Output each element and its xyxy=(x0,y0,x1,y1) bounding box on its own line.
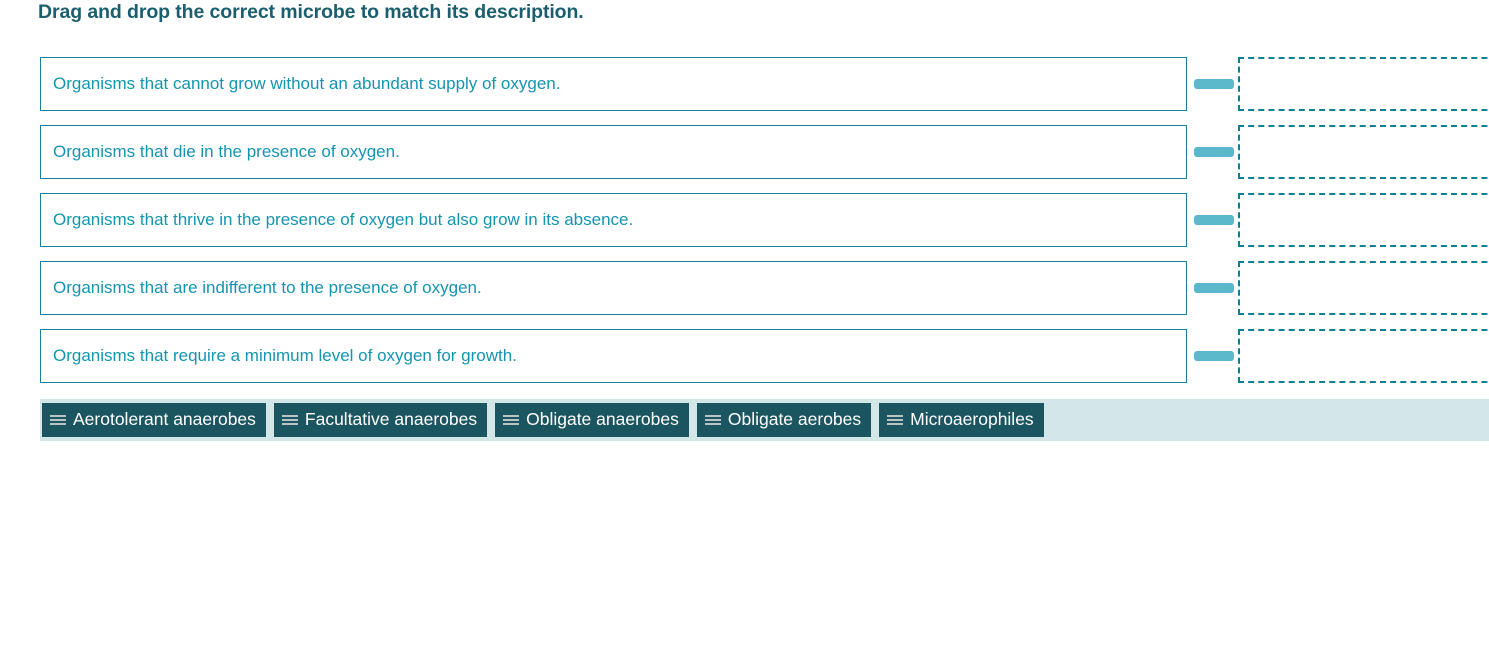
draggable-chip-aerotolerant-anaerobes[interactable]: Aerotolerant anaerobes xyxy=(42,403,266,437)
description-text: Organisms that cannot grow without an ab… xyxy=(41,74,560,94)
chip-label: Facultative anaerobes xyxy=(305,411,477,429)
description-text: Organisms that require a minimum level o… xyxy=(41,346,517,366)
description-box: Organisms that require a minimum level o… xyxy=(40,329,1187,383)
description-text: Organisms that die in the presence of ox… xyxy=(41,142,400,162)
match-row: Organisms that die in the presence of ox… xyxy=(0,125,1489,179)
draggable-chip-microaerophiles[interactable]: Microaerophiles xyxy=(879,403,1044,437)
match-row-list: Organisms that cannot grow without an ab… xyxy=(0,57,1489,397)
drag-handle-icon[interactable] xyxy=(887,414,903,426)
match-row: Organisms that thrive in the presence of… xyxy=(0,193,1489,247)
drop-zone[interactable] xyxy=(1238,125,1489,179)
drag-handle-icon[interactable] xyxy=(282,414,298,426)
description-box: Organisms that cannot grow without an ab… xyxy=(40,57,1187,111)
connector-bar-icon xyxy=(1194,351,1234,361)
description-box: Organisms that thrive in the presence of… xyxy=(40,193,1187,247)
draggable-chip-obligate-aerobes[interactable]: Obligate aerobes xyxy=(697,403,871,437)
draggable-chip-facultative-anaerobes[interactable]: Facultative anaerobes xyxy=(274,403,487,437)
chip-label: Obligate anaerobes xyxy=(526,411,679,429)
chip-label: Microaerophiles xyxy=(910,411,1034,429)
drop-zone[interactable] xyxy=(1238,329,1489,383)
drag-handle-icon[interactable] xyxy=(50,414,66,426)
match-row: Organisms that cannot grow without an ab… xyxy=(0,57,1489,111)
description-box: Organisms that are indifferent to the pr… xyxy=(40,261,1187,315)
connector-bar-icon xyxy=(1194,147,1234,157)
match-row: Organisms that are indifferent to the pr… xyxy=(0,261,1489,315)
drop-zone[interactable] xyxy=(1238,57,1489,111)
drag-handle-icon[interactable] xyxy=(503,414,519,426)
page-title: Drag and drop the correct microbe to mat… xyxy=(38,1,584,24)
drag-drop-question: Drag and drop the correct microbe to mat… xyxy=(0,0,1489,658)
drag-handle-icon[interactable] xyxy=(705,414,721,426)
chip-label: Obligate aerobes xyxy=(728,411,861,429)
description-box: Organisms that die in the presence of ox… xyxy=(40,125,1187,179)
chip-label: Aerotolerant anaerobes xyxy=(73,411,256,429)
connector-bar-icon xyxy=(1194,283,1234,293)
drop-zone[interactable] xyxy=(1238,261,1489,315)
description-text: Organisms that are indifferent to the pr… xyxy=(41,278,482,298)
connector-bar-icon xyxy=(1194,79,1234,89)
description-text: Organisms that thrive in the presence of… xyxy=(41,210,633,230)
connector-bar-icon xyxy=(1194,215,1234,225)
draggable-chip-obligate-anaerobes[interactable]: Obligate anaerobes xyxy=(495,403,689,437)
drop-zone[interactable] xyxy=(1238,193,1489,247)
match-row: Organisms that require a minimum level o… xyxy=(0,329,1489,383)
answer-chip-tray: Aerotolerant anaerobes Facultative anaer… xyxy=(40,399,1489,441)
